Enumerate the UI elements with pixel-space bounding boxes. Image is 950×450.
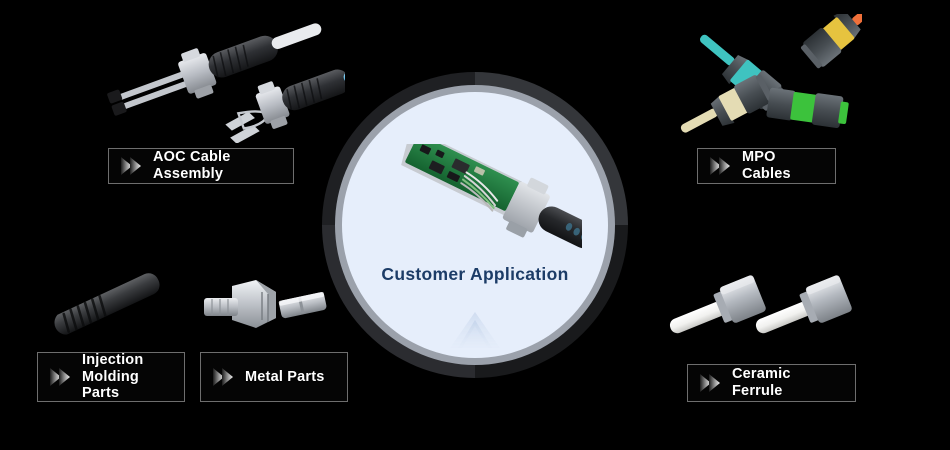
- chevron-up-watermark-icon: [448, 310, 502, 350]
- category-chip-metal-parts[interactable]: Metal Parts: [200, 352, 348, 402]
- ceramic-ferrule-image: [660, 272, 860, 352]
- chip-label: Injection Molding Parts: [82, 352, 170, 402]
- category-chip-ceramic-ferrule[interactable]: Ceramic Ferrule: [687, 364, 856, 402]
- double-chevron-right-icon: [698, 372, 724, 394]
- emblem-face: Customer Application: [342, 92, 608, 358]
- category-chip-aoc-cable-assembly[interactable]: AOC Cable Assembly: [108, 148, 294, 184]
- chip-label: AOC Cable Assembly: [153, 149, 279, 182]
- emblem-caption: Customer Application: [342, 264, 608, 285]
- category-chip-mpo-cables[interactable]: MPO Cables: [697, 148, 836, 184]
- chip-label: MPO Cables: [742, 149, 821, 182]
- double-chevron-right-icon: [211, 366, 237, 388]
- chip-label: Metal Parts: [245, 369, 325, 386]
- customer-application-product-image: [382, 144, 582, 256]
- canvas: Customer Application: [0, 0, 950, 450]
- metal-parts-image: [196, 276, 328, 342]
- mpo-cables-image: [672, 14, 862, 142]
- chip-label: Ceramic Ferrule: [732, 366, 841, 399]
- category-chip-injection-molding-parts[interactable]: Injection Molding Parts: [37, 352, 185, 402]
- injection-molding-parts-image: [42, 262, 174, 338]
- customer-application-emblem[interactable]: Customer Application: [322, 72, 628, 378]
- aoc-cable-assembly-image: [90, 18, 345, 143]
- double-chevron-right-icon: [708, 155, 734, 177]
- double-chevron-right-icon: [119, 155, 145, 177]
- double-chevron-right-icon: [48, 366, 74, 388]
